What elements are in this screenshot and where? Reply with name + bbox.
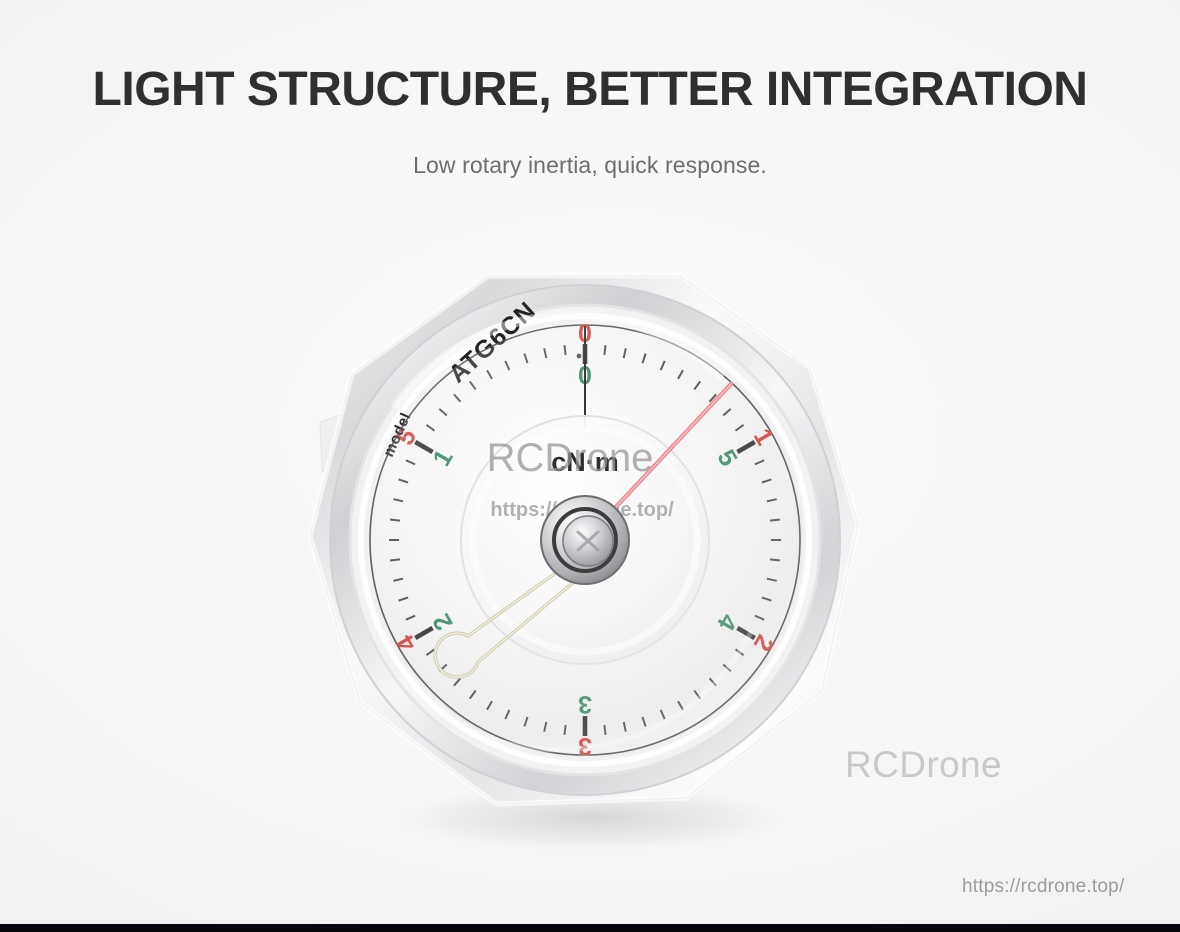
watermark-url: https://rcdrone.top/ (962, 876, 1124, 898)
page-subtitle: Low rotary inertia, quick response. (0, 152, 1180, 179)
watermark-brand: RCDrone (845, 744, 1002, 786)
bottom-black-bar (0, 924, 1180, 932)
glass-reflection (369, 324, 801, 756)
page-title: LIGHT STRUCTURE, BETTER INTEGRATION (0, 62, 1180, 117)
page-canvas: LIGHT STRUCTURE, BETTER INTEGRATION Low … (0, 0, 1180, 932)
product-image-torque-gauge: 012345 012345 ATG6CN model cN·m 6-0 RCDr… (282, 258, 890, 864)
